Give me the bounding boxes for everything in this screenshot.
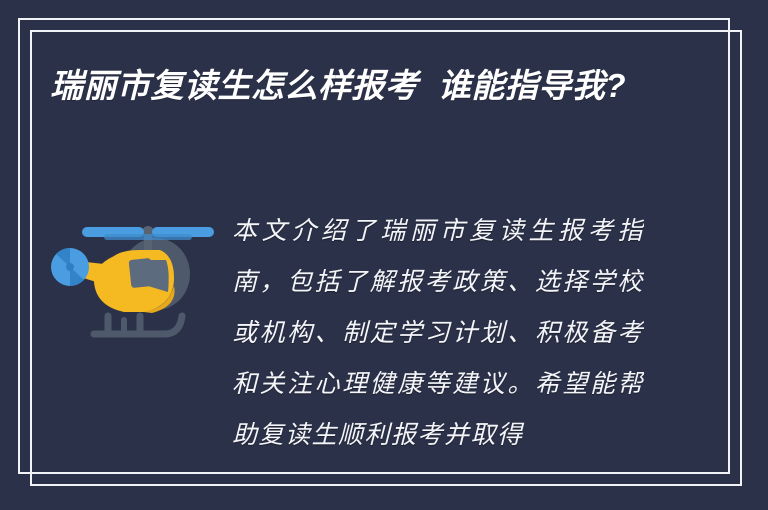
frame-corner-mask-top-right	[730, 0, 768, 20]
landing-skid-icon	[94, 316, 182, 334]
side-window	[129, 258, 154, 288]
article-summary: 本文介绍了瑞丽市复读生报考指南，包括了解报考政策、选择学校或机构、制定学习计划、…	[232, 205, 644, 467]
article-card: 瑞丽市复读生怎么样报考 谁能指导我?	[0, 0, 768, 510]
tail-rotor-icon	[51, 248, 89, 286]
helicopter-illustration	[48, 212, 220, 348]
frame-corner-mask-bottom-left	[0, 476, 20, 510]
page-title: 瑞丽市复读生怎么样报考 谁能指导我?	[50, 60, 690, 112]
